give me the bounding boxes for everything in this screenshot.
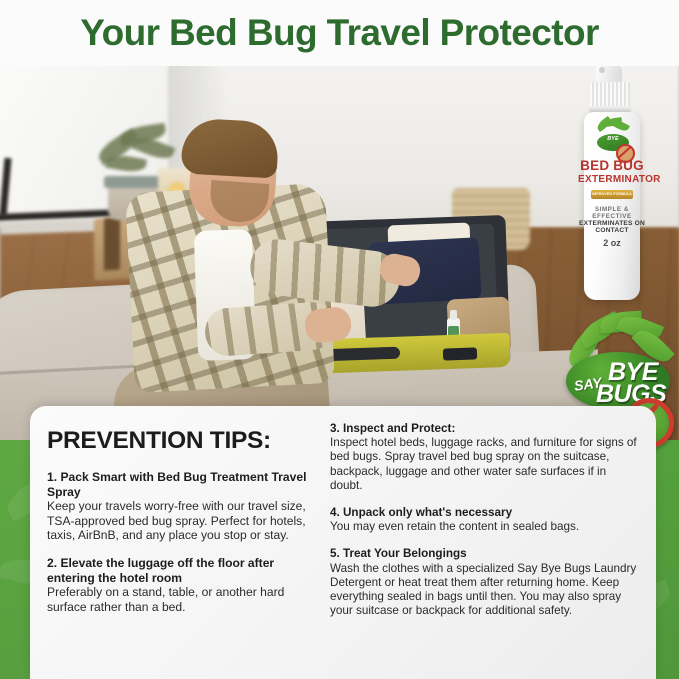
suitcase-lock xyxy=(443,347,477,360)
bottle-collar xyxy=(590,82,630,108)
infographic-root: Your Bed Bug Travel Protector xyxy=(0,0,679,679)
logo-leaf-icon xyxy=(613,119,630,133)
tip-title: 5. Treat Your Belongings xyxy=(330,547,640,561)
travel-spray-cap xyxy=(450,310,457,320)
improved-formula-badge: IMPROVED FORMULA xyxy=(591,190,633,199)
tip-item: 3. Inspect and Protect: Inspect hotel be… xyxy=(330,422,640,493)
tip-title: 2. Elevate the luggage off the floor aft… xyxy=(47,556,320,585)
tip-item: 4. Unpack only what's necessary You may … xyxy=(330,506,640,534)
tip-item: 2. Elevate the luggage off the floor aft… xyxy=(47,556,320,614)
chest-strap-left xyxy=(104,217,120,270)
page-title: Your Bed Bug Travel Protector xyxy=(80,12,599,54)
tips-column-right: 3. Inspect and Protect: Inspect hotel be… xyxy=(320,406,656,679)
tips-heading: PREVENTION TIPS: xyxy=(47,427,320,455)
tip-body: Inspect hotel beds, luggage racks, and f… xyxy=(330,436,640,493)
product-subtitle: EXTERMINATOR xyxy=(578,174,646,185)
product-claim: EXTERMINATES ON CONTACT xyxy=(578,220,646,234)
tip-item: 1. Pack Smart with Bed Bug Treatment Tra… xyxy=(47,470,320,543)
tip-title: 3. Inspect and Protect: xyxy=(330,422,640,436)
tip-body: Preferably on a stand, table, or another… xyxy=(47,585,320,614)
product-title: BED BUG xyxy=(578,158,646,173)
prevention-tips-panel: PREVENTION TIPS: 1. Pack Smart with Bed … xyxy=(30,406,656,679)
tips-column-left: PREVENTION TIPS: 1. Pack Smart with Bed … xyxy=(30,406,320,679)
product-spray-bottle: BYE BED BUG EXTERMINATOR IMPROVED FORMUL… xyxy=(578,62,650,302)
tip-item: 5. Treat Your Belongings Wash the clothe… xyxy=(330,547,640,618)
tip-title: 4. Unpack only what's necessary xyxy=(330,506,640,520)
spray-nozzle-hole xyxy=(599,67,605,73)
product-size: 2 oz xyxy=(578,238,646,248)
tip-body: Wash the clothes with a specialized Say … xyxy=(330,562,640,619)
header-banner: Your Bed Bug Travel Protector xyxy=(0,0,679,66)
product-tagline: SIMPLE & EFFECTIVE xyxy=(578,206,646,220)
tip-body: Keep your travels worry-free with our tr… xyxy=(47,499,320,543)
logo-bye-text: BYE xyxy=(599,137,627,142)
tip-title: 1. Pack Smart with Bed Bug Treatment Tra… xyxy=(47,470,320,499)
tip-body: You may even retain the content in seale… xyxy=(330,520,640,534)
